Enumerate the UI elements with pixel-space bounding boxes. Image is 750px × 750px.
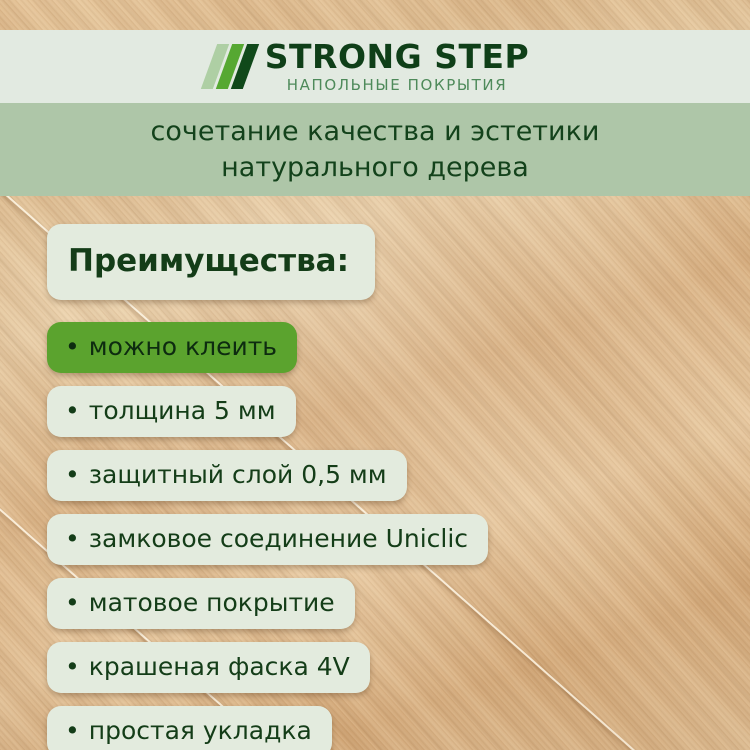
logo-stripes-icon (209, 44, 251, 89)
promo-poster: STRONG STEP НАПОЛЬНЫЕ ПОКРЫТИЯ сочетание… (0, 0, 750, 750)
feature-pill: •защитный слой 0,5 мм (47, 450, 407, 501)
bullet-dot-icon: • (65, 460, 80, 489)
feature-label: защитный слой 0,5 мм (89, 460, 387, 489)
feature-label: можно клеить (89, 332, 277, 361)
tagline-line-1: сочетание качества и эстетики (151, 116, 600, 148)
feature-label: простая укладка (89, 716, 312, 745)
brand-subtitle: НАПОЛЬНЫЕ ПОКРЫТИЯ (287, 78, 508, 93)
features-list: Преимущества: •можно клеить•толщина 5 мм… (47, 224, 488, 750)
features-heading: Преимущества: (47, 224, 375, 300)
logo-band: STRONG STEP НАПОЛЬНЫЕ ПОКРЫТИЯ (0, 30, 750, 103)
bullet-dot-icon: • (65, 524, 80, 553)
bullet-dot-icon: • (65, 716, 80, 745)
bullet-dot-icon: • (65, 652, 80, 681)
brand-name: STRONG STEP (265, 40, 529, 73)
bullet-dot-icon: • (65, 332, 80, 361)
feature-label: замковое соединение Uniclic (89, 524, 468, 553)
feature-pill: •простая укладка (47, 706, 332, 750)
feature-bullets: •можно клеить•толщина 5 мм•защитный слой… (47, 322, 488, 750)
bullet-dot-icon: • (65, 588, 80, 617)
feature-pill: •крашеная фаска 4V (47, 642, 370, 693)
feature-pill: •матовое покрытие (47, 578, 355, 629)
feature-pill: •толщина 5 мм (47, 386, 296, 437)
feature-label: крашеная фаска 4V (89, 652, 350, 681)
bullet-dot-icon: • (65, 396, 80, 425)
feature-label: толщина 5 мм (89, 396, 276, 425)
feature-pill: •замковое соединение Uniclic (47, 514, 488, 565)
brand-text: STRONG STEP НАПОЛЬНЫЕ ПОКРЫТИЯ (265, 40, 529, 93)
brand-logo: STRONG STEP НАПОЛЬНЫЕ ПОКРЫТИЯ (209, 40, 529, 93)
tagline-line-2: натурального дерева (221, 152, 529, 184)
tagline-band: сочетание качества и эстетики натурально… (0, 103, 750, 196)
feature-label: матовое покрытие (89, 588, 335, 617)
feature-pill: •можно клеить (47, 322, 297, 373)
